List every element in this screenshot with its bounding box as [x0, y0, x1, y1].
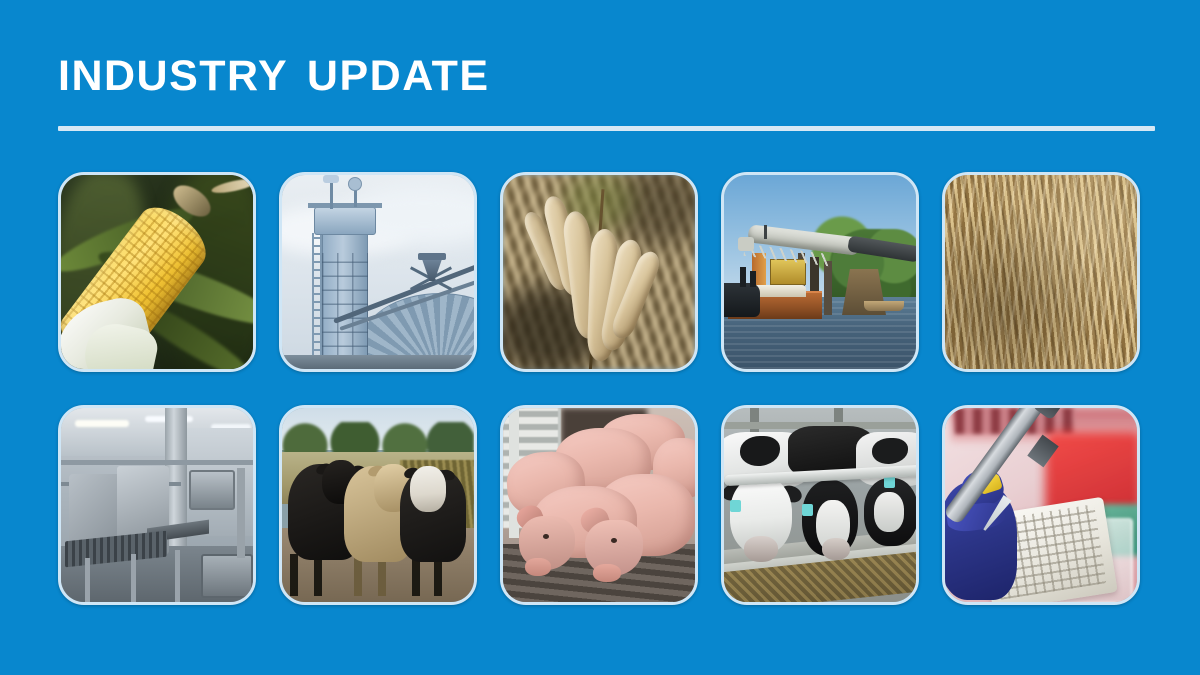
photo-tile-wheat[interactable]: Field of ripe golden wheat heads: [942, 172, 1140, 372]
processing-plant-image: [61, 408, 253, 602]
title-divider: [58, 126, 1155, 131]
photo-tile-grain-elevator[interactable]: Grain elevator dryer tower beside a dome…: [279, 172, 477, 372]
slide-canvas: Industry Update Yellow corn cob on the s…: [0, 0, 1200, 675]
beef-cattle-image: [282, 408, 474, 602]
grain-elevator-image: [282, 175, 474, 369]
lab-pipette-image: [945, 408, 1137, 602]
photo-tile-dairy-cows[interactable]: Holstein dairy cows eating at a feed bun…: [721, 405, 919, 605]
photo-grid: Yellow corn cob on the stalk with green …: [58, 172, 1140, 605]
corn-image: [61, 175, 253, 369]
page-title: Industry Update: [58, 36, 1158, 104]
title-block: Industry Update: [58, 36, 1158, 116]
photo-tile-processing-plant[interactable]: Stainless steel food processing plant in…: [58, 405, 256, 605]
photo-tile-lab-pipette[interactable]: Gloved hand pipetting into a 96-well mic…: [942, 405, 1140, 605]
photo-tile-beef-cattle[interactable]: Beef cattle standing in a pasture lot: [279, 405, 477, 605]
photo-tile-hogs[interactable]: Pigs in a barn pen on slatted flooring: [500, 405, 698, 605]
photo-tile-soybeans[interactable]: Mature dried soybean pods hanging on the…: [500, 172, 698, 372]
dairy-cows-image: [724, 408, 916, 602]
barge-image: [724, 175, 916, 369]
soybean-image: [503, 175, 695, 369]
wheat-image: [945, 175, 1137, 369]
photo-tile-corn[interactable]: Yellow corn cob on the stalk with green …: [58, 172, 256, 372]
hogs-image: [503, 408, 695, 602]
photo-tile-barge-terminal[interactable]: River barge loading terminal with grain …: [721, 172, 919, 372]
